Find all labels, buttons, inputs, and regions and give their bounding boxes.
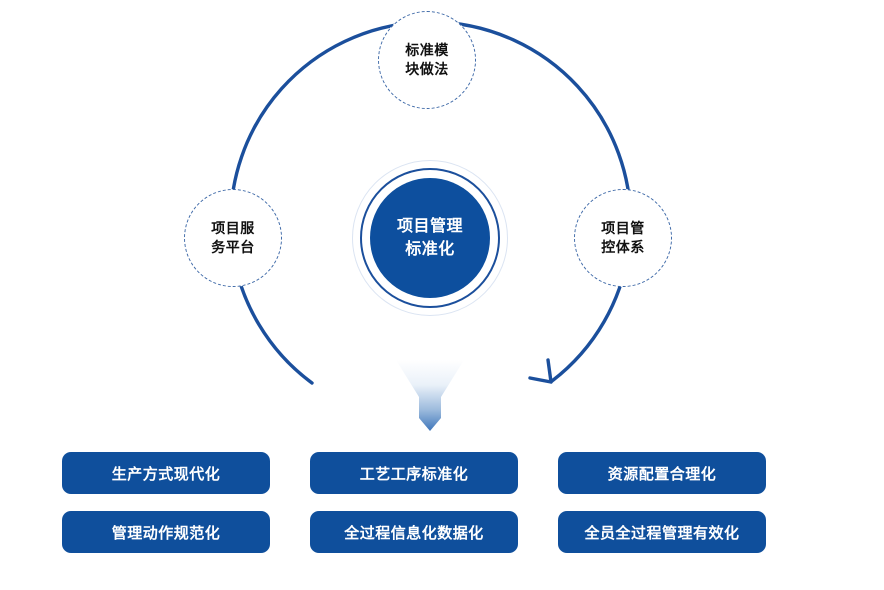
hub-title-line-2: 标准化: [405, 238, 455, 261]
counterclockwise-arrow-icon: [530, 360, 551, 382]
outcome-box[interactable]: 资源配置合理化: [558, 452, 766, 494]
satellite-node-top[interactable]: 标准模 块做法: [378, 11, 476, 109]
satellite-top-line-2: 块做法: [405, 60, 449, 79]
down-arrow-icon: [396, 360, 464, 431]
satellite-right-line-2: 控体系: [601, 238, 645, 257]
satellite-top-line-1: 标准模: [405, 41, 449, 60]
satellite-left-line-2: 务平台: [211, 238, 255, 257]
outcome-box[interactable]: 工艺工序标准化: [310, 452, 518, 494]
outcome-box-grid: 生产方式现代化 工艺工序标准化 资源配置合理化 管理动作规范化 全过程信息化数据…: [62, 452, 822, 553]
diagram-canvas: 项目管理 标准化 标准模 块做法 项目服 务平台 项目管 控体系 生产方式现代化…: [0, 0, 884, 590]
outcome-box[interactable]: 管理动作规范化: [62, 511, 270, 553]
satellite-left-line-1: 项目服: [211, 219, 255, 238]
satellite-node-right[interactable]: 项目管 控体系: [574, 189, 672, 287]
outcome-box[interactable]: 生产方式现代化: [62, 452, 270, 494]
satellite-node-left[interactable]: 项目服 务平台: [184, 189, 282, 287]
hub-center-node[interactable]: 项目管理 标准化: [370, 178, 490, 298]
outcome-box[interactable]: 全过程信息化数据化: [310, 511, 518, 553]
satellite-right-line-1: 项目管: [601, 219, 645, 238]
outcome-box[interactable]: 全员全过程管理有效化: [558, 511, 766, 553]
hub-title-line-1: 项目管理: [397, 215, 463, 238]
